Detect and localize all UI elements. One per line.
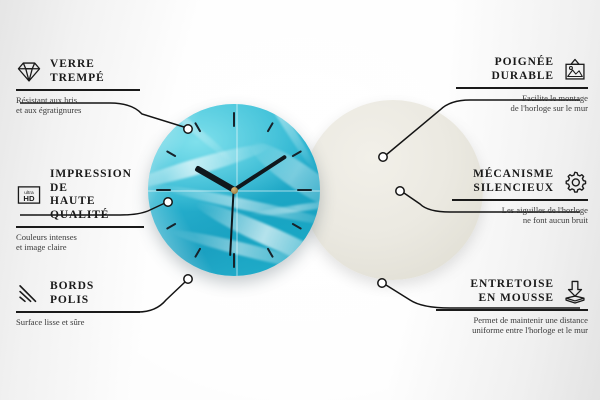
callout-title: VERRE TREMPÉ	[50, 58, 105, 85]
clock-tick	[233, 112, 235, 190]
diamond-icon	[16, 59, 42, 85]
callout-subtitle: Les aiguilles de l'horloge ne font aucun…	[452, 205, 588, 226]
callout-verre-trempe: VERRE TREMPÉ Résistant aux bris et aux é…	[16, 58, 140, 116]
callout-subtitle: Résistant aux bris et aux égratignures	[16, 95, 140, 116]
callout-impression: ultra HD IMPRESSION DE HAUTE QUALITÉ Cou…	[16, 168, 144, 253]
clock-front-image	[148, 104, 320, 276]
callout-title: MÉCANISME SILENCIEUX	[473, 168, 554, 195]
product-infographic: VERRE TREMPÉ Résistant aux bris et aux é…	[0, 0, 600, 400]
divider	[16, 89, 140, 91]
divider	[436, 309, 588, 311]
clock-hand-hub	[231, 187, 238, 194]
polished-edges-icon	[16, 281, 42, 307]
gear-icon	[562, 169, 588, 195]
divider	[16, 226, 144, 228]
callout-subtitle: Couleurs intenses et image claire	[16, 232, 144, 253]
callout-title: ENTRETOISE EN MOUSSE	[470, 278, 554, 305]
clock-tick	[234, 189, 312, 191]
callout-subtitle: Permet de maintenir une distance uniform…	[436, 315, 588, 336]
callout-bords-polis: BORDS POLIS Surface lisse et sûre	[16, 280, 140, 327]
callout-entretoise-mousse: ENTRETOISE EN MOUSSE Permet de maintenir…	[436, 278, 588, 336]
callout-subtitle: Surface lisse et sûre	[16, 317, 140, 328]
divider	[452, 199, 588, 201]
ultra-hd-icon: ultra HD	[16, 182, 42, 208]
callout-mecanisme-silencieux: MÉCANISME SILENCIEUX Les aiguilles de l'…	[452, 168, 588, 226]
callout-poignee-durable: POIGNÉE DURABLE Facilite le montage de l…	[456, 56, 588, 114]
callout-subtitle: Facilite le montage de l'horloge sur le …	[456, 93, 588, 114]
picture-hanger-icon	[562, 57, 588, 83]
foam-spacer-icon	[562, 279, 588, 305]
svg-text:HD: HD	[23, 194, 35, 203]
callout-title: IMPRESSION DE HAUTE QUALITÉ	[50, 168, 144, 222]
callout-title: POIGNÉE DURABLE	[491, 56, 554, 83]
divider	[456, 87, 588, 89]
divider	[16, 311, 140, 313]
callout-title: BORDS POLIS	[50, 280, 94, 307]
clock-tick	[156, 189, 234, 191]
